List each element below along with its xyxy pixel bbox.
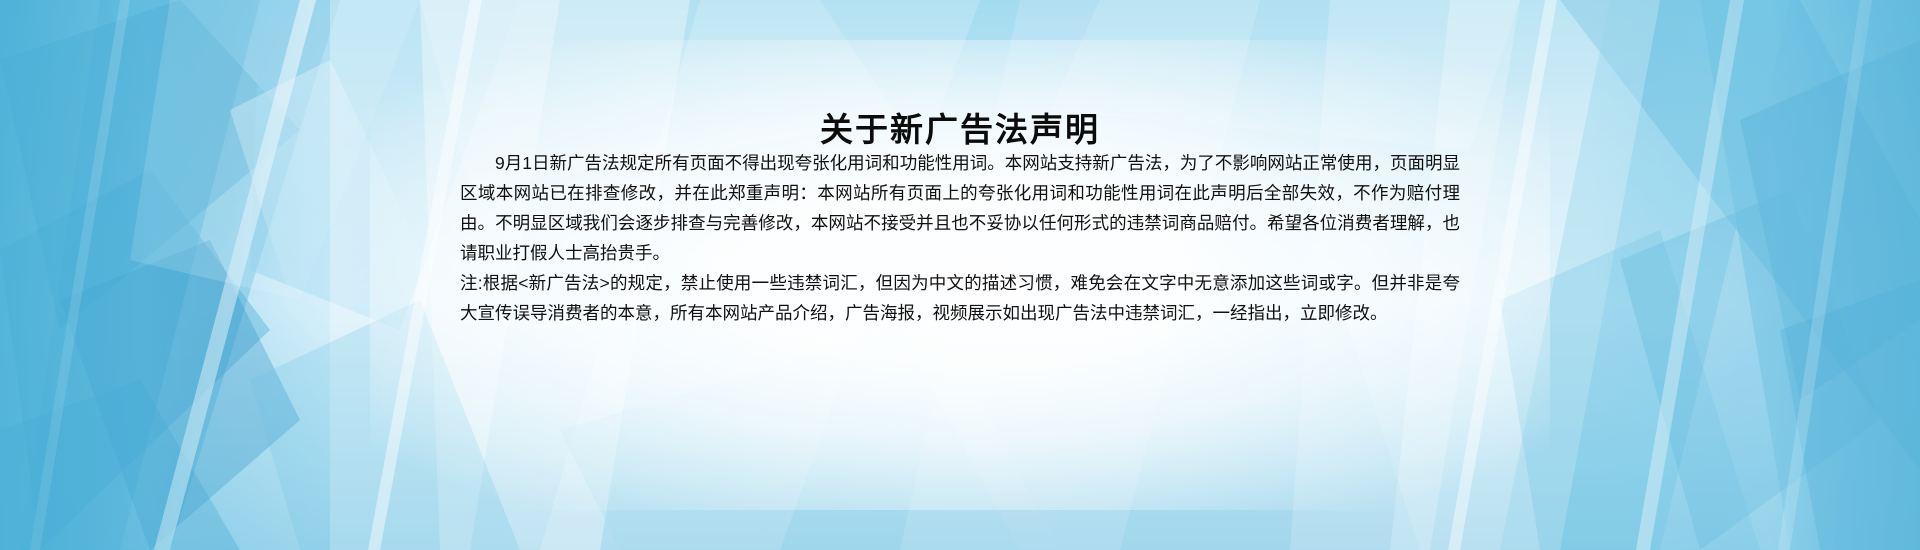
statement-body: 9月1日新广告法规定所有页面不得出现夸张化用词和功能性用词。本网站支持新广告法，… — [460, 148, 1460, 328]
statement-paragraph-1: 9月1日新广告法规定所有页面不得出现夸张化用词和功能性用词。本网站支持新广告法，… — [460, 148, 1460, 268]
page-title: 关于新广告法声明 — [0, 110, 1920, 150]
statement-content: 关于新广告法声明 9月1日新广告法规定所有页面不得出现夸张化用词和功能性用词。本… — [0, 0, 1920, 550]
advertising-law-statement-banner: 关于新广告法声明 9月1日新广告法规定所有页面不得出现夸张化用词和功能性用词。本… — [0, 0, 1920, 550]
statement-paragraph-2: 注:根据<新广告法>的规定，禁止使用一些违禁词汇，但因为中文的描述习惯，难免会在… — [460, 268, 1460, 328]
